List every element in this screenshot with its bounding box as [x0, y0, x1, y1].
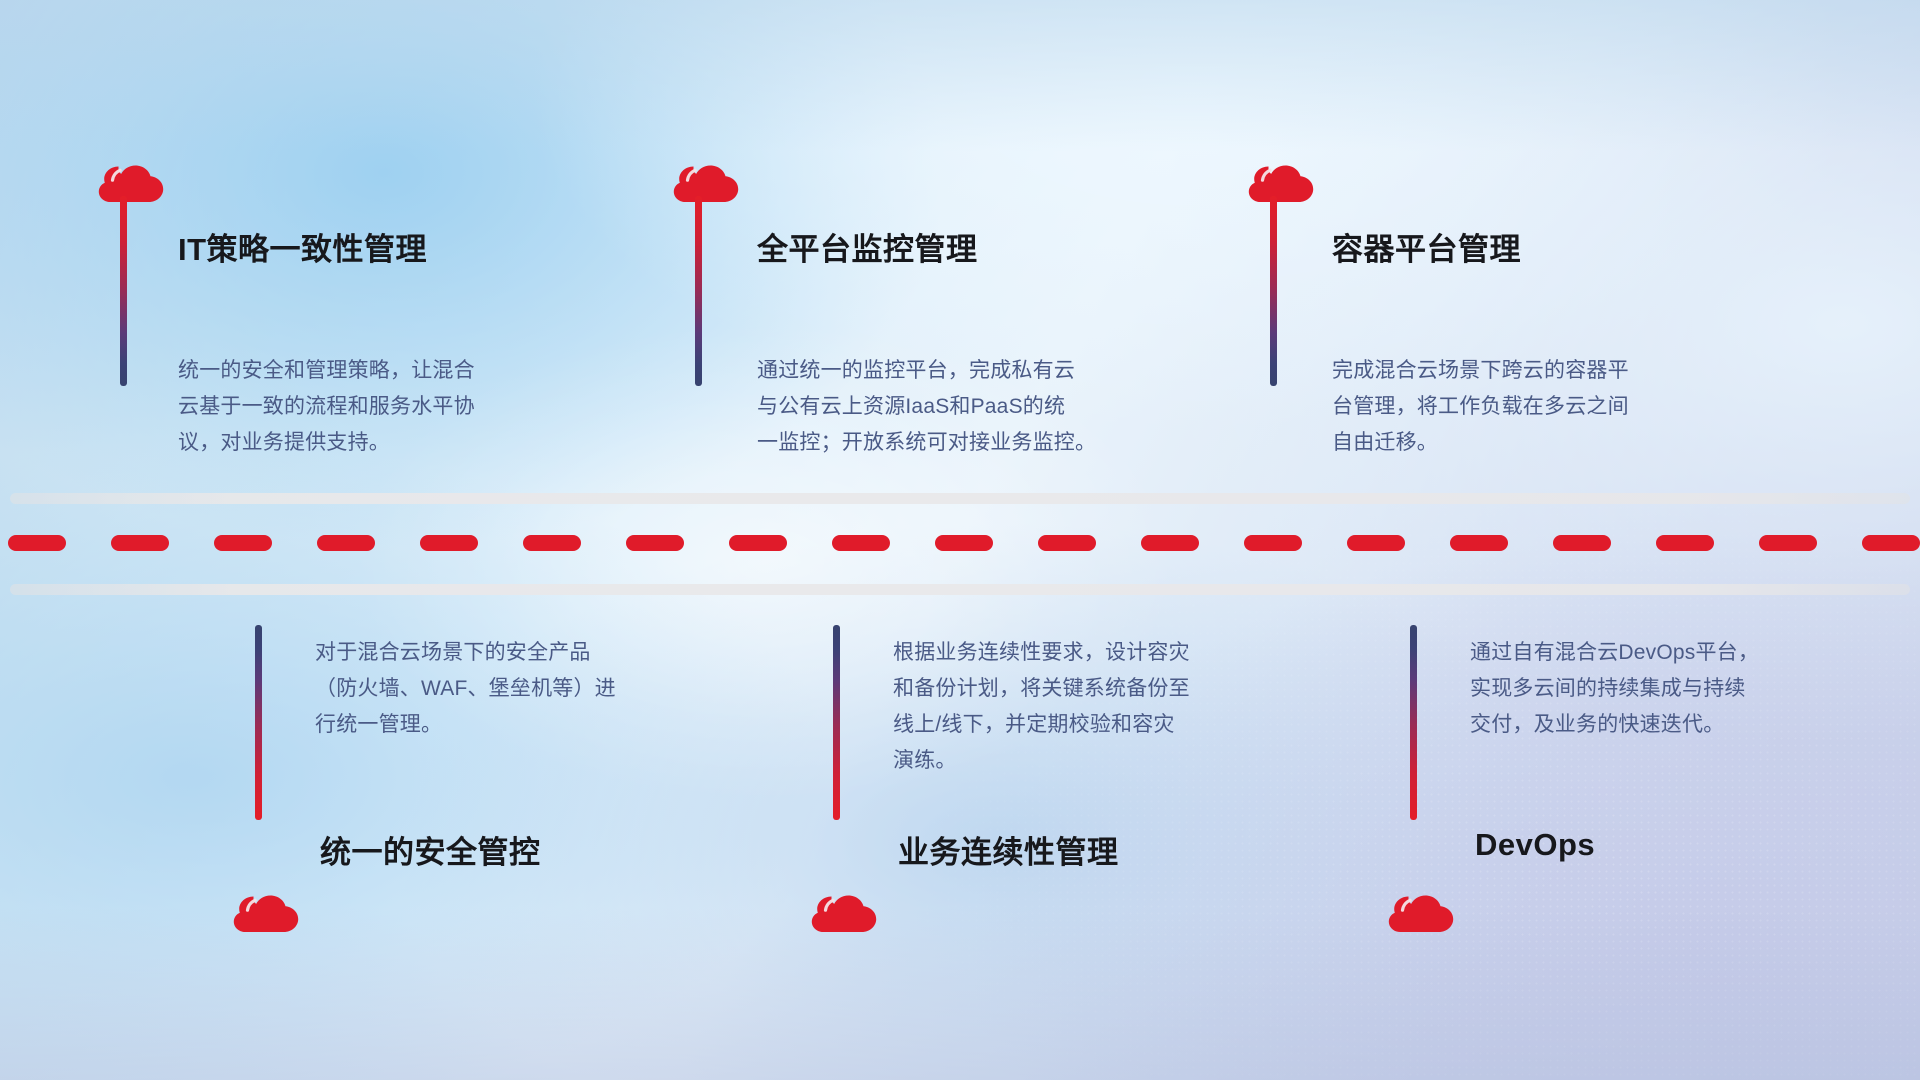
body-line: 对于混合云场景下的安全产品 — [315, 635, 665, 671]
body-line: 线上/线下，并定期校验和容灾 — [893, 707, 1243, 743]
cloud-icon — [1248, 160, 1314, 210]
column-title: 统一的安全管控 — [320, 827, 541, 872]
body-line: 与公有云上资源IaaS和PaaS的统 — [757, 389, 1137, 425]
road-dash — [1862, 535, 1920, 551]
body-line: 演练。 — [893, 743, 1243, 779]
road-dash — [1141, 535, 1199, 551]
column-title: 业务连续性管理 — [898, 827, 1119, 872]
road-dash — [8, 535, 66, 551]
road-dash — [1038, 535, 1096, 551]
road-dash — [111, 535, 169, 551]
road-dash — [1450, 535, 1508, 551]
road-dash — [1347, 535, 1405, 551]
road-line-top — [10, 493, 1910, 504]
connector-stem — [833, 625, 840, 820]
road-line-bottom — [10, 584, 1910, 595]
road-dash — [832, 535, 890, 551]
body-line: 一监控；开放系统可对接业务监控。 — [757, 425, 1137, 461]
body-line: 云基于一致的流程和服务水平协 — [178, 389, 528, 425]
body-line: 议，对业务提供支持。 — [178, 425, 528, 461]
road-dash — [1244, 535, 1302, 551]
body-line: 通过统一的监控平台，完成私有云 — [757, 353, 1137, 389]
road-dash — [214, 535, 272, 551]
road-dash — [1759, 535, 1817, 551]
connector-stem — [1410, 625, 1417, 820]
column-title: 全平台监控管理 — [757, 224, 978, 269]
body-line: 台管理，将工作负载在多云之间 — [1332, 389, 1682, 425]
column-body: 通过统一的监控平台，完成私有云 与公有云上资源IaaS和PaaS的统 一监控；开… — [757, 353, 1137, 461]
connector-stem — [255, 625, 262, 820]
cloud-icon — [1388, 890, 1454, 940]
column-body: 根据业务连续性要求，设计容灾 和备份计划，将关键系统备份至 线上/线下，并定期校… — [893, 635, 1243, 779]
column-body: 通过自有混合云DevOps平台， 实现多云间的持续集成与持续 交付，及业务的快速… — [1470, 635, 1820, 743]
cloud-icon — [673, 160, 739, 210]
connector-stem — [120, 196, 127, 386]
road-dash — [1656, 535, 1714, 551]
road-dash — [317, 535, 375, 551]
column-body: 统一的安全和管理策略，让混合 云基于一致的流程和服务水平协 议，对业务提供支持。 — [178, 353, 528, 461]
column-body: 对于混合云场景下的安全产品 （防火墙、WAF、堡垒机等）进 行统一管理。 — [315, 635, 665, 743]
body-line: （防火墙、WAF、堡垒机等）进 — [315, 671, 665, 707]
cloud-icon — [98, 160, 164, 210]
infographic-canvas: IT策略一致性管理 统一的安全和管理策略，让混合 云基于一致的流程和服务水平协 … — [0, 0, 1920, 1080]
body-line: 统一的安全和管理策略，让混合 — [178, 353, 528, 389]
column-title: IT策略一致性管理 — [178, 224, 427, 269]
connector-stem — [1270, 196, 1277, 386]
road-dash-row — [0, 534, 1920, 551]
body-line: 实现多云间的持续集成与持续 — [1470, 671, 1820, 707]
cloud-icon — [233, 890, 299, 940]
column-title: DevOps — [1475, 827, 1595, 863]
column-body: 完成混合云场景下跨云的容器平 台管理，将工作负载在多云之间 自由迁移。 — [1332, 353, 1682, 461]
body-line: 自由迁移。 — [1332, 425, 1682, 461]
body-line: 和备份计划，将关键系统备份至 — [893, 671, 1243, 707]
body-line: 交付，及业务的快速迭代。 — [1470, 707, 1820, 743]
column-title: 容器平台管理 — [1332, 224, 1521, 269]
body-line: 完成混合云场景下跨云的容器平 — [1332, 353, 1682, 389]
body-line: 根据业务连续性要求，设计容灾 — [893, 635, 1243, 671]
body-line: 通过自有混合云DevOps平台， — [1470, 635, 1820, 671]
road-dash — [523, 535, 581, 551]
cloud-icon — [811, 890, 877, 940]
road-dash — [935, 535, 993, 551]
road-dash — [729, 535, 787, 551]
body-line: 行统一管理。 — [315, 707, 665, 743]
road-dash — [1553, 535, 1611, 551]
road-divider — [0, 487, 1920, 597]
road-dash — [420, 535, 478, 551]
road-dash — [626, 535, 684, 551]
connector-stem — [695, 196, 702, 386]
